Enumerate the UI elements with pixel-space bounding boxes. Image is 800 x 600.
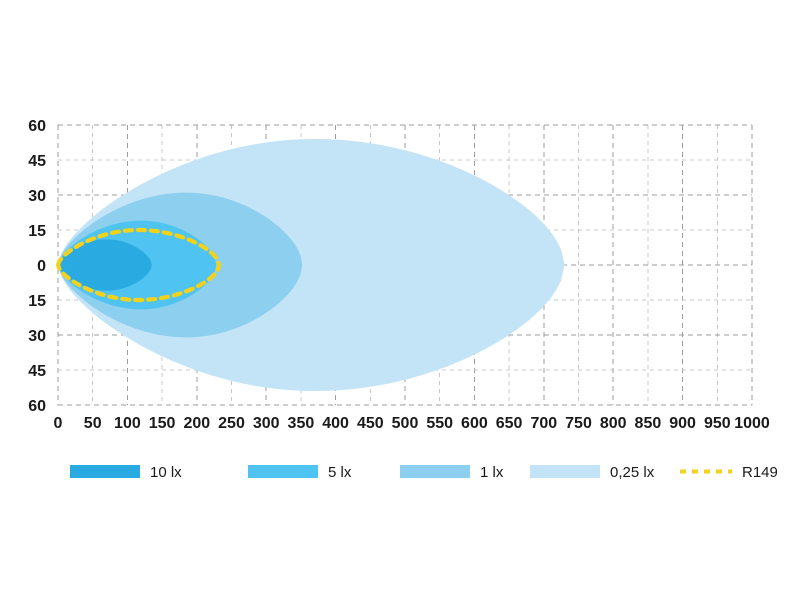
x-tick-label: 250	[218, 415, 245, 432]
legend-label: 5 lx	[328, 464, 352, 481]
legend-color-swatch	[248, 465, 318, 478]
x-tick-label: 150	[149, 415, 176, 432]
legend-color-swatch	[530, 465, 600, 478]
legend-item[interactable]: 1 lx	[400, 464, 504, 481]
y-tick-label: 0	[37, 258, 46, 275]
x-tick-label: 500	[392, 415, 419, 432]
legend-item[interactable]: 5 lx	[248, 464, 352, 481]
legend-label: 1 lx	[480, 464, 504, 481]
y-axis-tick-labels: 60453015015304560	[28, 118, 46, 415]
x-tick-label: 950	[704, 415, 731, 432]
x-tick-label: 600	[461, 415, 488, 432]
x-tick-label: 50	[84, 415, 102, 432]
x-tick-label: 450	[357, 415, 384, 432]
legend-color-swatch	[70, 465, 140, 478]
legend-label: R149	[742, 464, 778, 481]
x-tick-label: 850	[635, 415, 662, 432]
chart-canvas: 0501001502002503003504004505005506006507…	[0, 0, 800, 600]
x-tick-label: 400	[322, 415, 349, 432]
x-tick-label: 750	[565, 415, 592, 432]
legend-label: 10 lx	[150, 464, 182, 481]
y-tick-label: 30	[28, 188, 46, 205]
x-tick-label: 100	[114, 415, 141, 432]
x-tick-label: 0	[54, 415, 63, 432]
x-tick-label: 800	[600, 415, 627, 432]
x-tick-label: 650	[496, 415, 523, 432]
y-tick-label: 15	[28, 293, 46, 310]
light-distribution-chart: 0501001502002503003504004505005506006507…	[0, 0, 800, 600]
legend-color-swatch	[400, 465, 470, 478]
x-tick-label: 900	[669, 415, 696, 432]
legend-item[interactable]: R149	[680, 464, 778, 481]
x-tick-label: 550	[426, 415, 453, 432]
x-tick-label: 200	[183, 415, 210, 432]
legend-label: 0,25 lx	[610, 464, 655, 481]
x-tick-label: 300	[253, 415, 280, 432]
x-tick-label: 350	[288, 415, 315, 432]
y-tick-label: 30	[28, 328, 46, 345]
y-tick-label: 60	[28, 118, 46, 135]
legend-item[interactable]: 0,25 lx	[530, 464, 655, 481]
y-tick-label: 45	[28, 153, 46, 170]
x-tick-label: 1000	[734, 415, 770, 432]
x-tick-label: 700	[530, 415, 557, 432]
legend-item[interactable]: 10 lx	[70, 464, 182, 481]
y-tick-label: 60	[28, 398, 46, 415]
y-tick-label: 15	[28, 223, 46, 240]
x-axis-tick-labels: 0501001502002503003504004505005506006507…	[54, 415, 770, 432]
chart-legend: 10 lx5 lx1 lx0,25 lxR149	[70, 464, 778, 481]
y-tick-label: 45	[28, 363, 46, 380]
